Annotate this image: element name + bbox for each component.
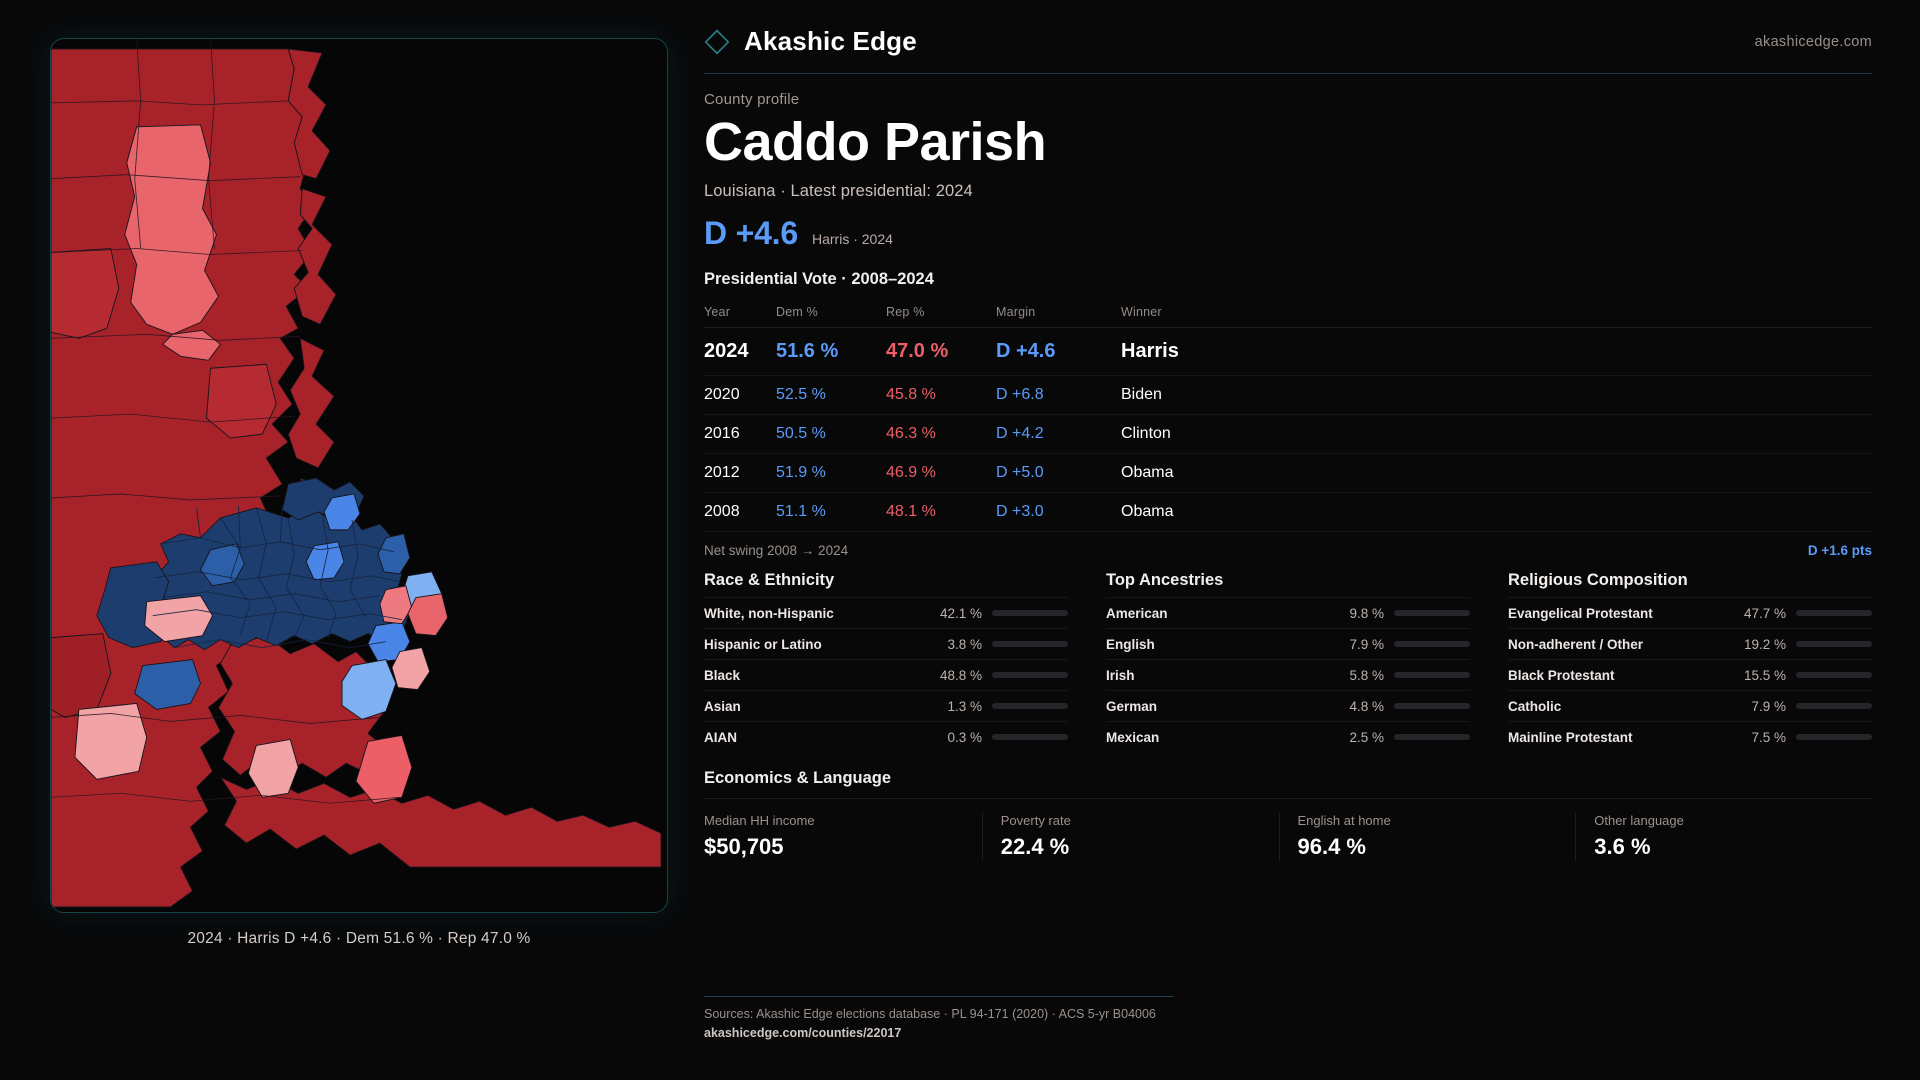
religion-value: 47.7 % xyxy=(1734,606,1786,621)
cell-dem: 50.5 % xyxy=(776,415,886,454)
vote-section-heading: Presidential Vote · 2008–2024 xyxy=(704,270,1872,289)
stat-label: English at home xyxy=(1298,813,1576,828)
footer-sources: Sources: Akashic Edge elections database… xyxy=(704,1007,1174,1021)
cell-rep: 46.3 % xyxy=(886,415,996,454)
list-item[interactable]: Non-adherent / Other19.2 % xyxy=(1508,628,1872,659)
religion-value: 7.5 % xyxy=(1734,730,1786,745)
cell-winner: Clinton xyxy=(1121,415,1872,454)
cell-winner: Biden xyxy=(1121,376,1872,415)
list-item[interactable]: Hispanic or Latino3.8 % xyxy=(704,628,1068,659)
ancestry-label: Irish xyxy=(1106,668,1322,683)
religion-heading: Religious Composition xyxy=(1508,571,1872,590)
race-value: 48.8 % xyxy=(930,668,982,683)
list-item[interactable]: Asian1.3 % xyxy=(704,690,1068,721)
race-value: 0.3 % xyxy=(930,730,982,745)
ancestry-value: 2.5 % xyxy=(1332,730,1384,745)
race-bar-track xyxy=(992,734,1068,740)
stat-other-language: Other language 3.6 % xyxy=(1575,813,1872,860)
brand-bar: Akashic Edge akashicedge.com xyxy=(704,26,1872,57)
stat-label: Poverty rate xyxy=(1001,813,1279,828)
page-eyebrow: County profile xyxy=(704,91,1872,108)
col-winner: Winner xyxy=(1121,298,1872,328)
diamond-outline-icon xyxy=(704,29,730,55)
demographics-row: Race & Ethnicity White, non-Hispanic42.1… xyxy=(704,571,1872,752)
religion-bar-track xyxy=(1796,610,1872,616)
stat-value: 3.6 % xyxy=(1594,834,1872,860)
race-label: AIAN xyxy=(704,730,920,745)
table-row[interactable]: 2020 52.5 % 45.8 % D +6.8 Biden xyxy=(704,376,1872,415)
list-item[interactable]: English7.9 % xyxy=(1106,628,1470,659)
stat-value: 22.4 % xyxy=(1001,834,1279,860)
cell-margin: D +4.6 xyxy=(996,328,1121,376)
race-heading: Race & Ethnicity xyxy=(704,571,1068,590)
page-title: Caddo Parish xyxy=(704,112,1872,172)
economics-divider xyxy=(704,798,1872,799)
ancestry-bar-track xyxy=(1394,672,1470,678)
list-item[interactable]: Irish5.8 % xyxy=(1106,659,1470,690)
religion-bar-track xyxy=(1796,672,1872,678)
cell-year: 2012 xyxy=(704,454,776,493)
list-item[interactable]: White, non-Hispanic42.1 % xyxy=(704,597,1068,628)
ancestry-label: German xyxy=(1106,699,1322,714)
brand[interactable]: Akashic Edge xyxy=(704,26,917,57)
list-item[interactable]: German4.8 % xyxy=(1106,690,1470,721)
stat-value: $50,705 xyxy=(704,834,982,860)
headline-margin-note: Harris · 2024 xyxy=(812,231,893,247)
col-dem: Dem % xyxy=(776,298,886,328)
precinct-map-svg[interactable] xyxy=(51,39,667,912)
religion-label: Evangelical Protestant xyxy=(1508,606,1724,621)
cell-margin: D +4.2 xyxy=(996,415,1121,454)
cell-year: 2008 xyxy=(704,493,776,532)
table-row[interactable]: 2008 51.1 % 48.1 % D +3.0 Obama xyxy=(704,493,1872,532)
religion-value: 15.5 % xyxy=(1734,668,1786,683)
cell-dem: 52.5 % xyxy=(776,376,886,415)
brand-url[interactable]: akashicedge.com xyxy=(1755,34,1872,50)
ancestry-label: American xyxy=(1106,606,1322,621)
religion-value: 7.9 % xyxy=(1734,699,1786,714)
stat-median-hh-income: Median HH income $50,705 xyxy=(704,813,982,860)
list-item[interactable]: Black48.8 % xyxy=(704,659,1068,690)
footer-permalink[interactable]: akashicedge.com/counties/22017 xyxy=(704,1026,1174,1040)
ancestry-label: English xyxy=(1106,637,1322,652)
list-item[interactable]: Black Protestant15.5 % xyxy=(1508,659,1872,690)
cell-margin: D +6.8 xyxy=(996,376,1121,415)
race-label: White, non-Hispanic xyxy=(704,606,920,621)
headline-margin-value: D +4.6 xyxy=(704,215,798,252)
race-ethnicity-panel: Race & Ethnicity White, non-Hispanic42.1… xyxy=(704,571,1068,752)
race-value: 42.1 % xyxy=(930,606,982,621)
race-label: Asian xyxy=(704,699,920,714)
footer: Sources: Akashic Edge elections database… xyxy=(704,996,1174,1040)
race-bar-track xyxy=(992,610,1068,616)
ancestry-label: Mexican xyxy=(1106,730,1322,745)
stat-english-at-home: English at home 96.4 % xyxy=(1279,813,1576,860)
race-bar-track xyxy=(992,703,1068,709)
stat-poverty-rate: Poverty rate 22.4 % xyxy=(982,813,1279,860)
race-bar-track xyxy=(992,641,1068,647)
race-label: Hispanic or Latino xyxy=(704,637,920,652)
list-item[interactable]: Catholic7.9 % xyxy=(1508,690,1872,721)
col-year: Year xyxy=(704,298,776,328)
economics-row: Median HH income $50,705 Poverty rate 22… xyxy=(704,813,1872,860)
race-bar-track xyxy=(992,672,1068,678)
stat-label: Other language xyxy=(1594,813,1872,828)
race-label: Black xyxy=(704,668,920,683)
content-column: Akashic Edge akashicedge.com County prof… xyxy=(690,0,1920,1080)
ancestry-value: 4.8 % xyxy=(1332,699,1384,714)
religion-bar-track xyxy=(1796,734,1872,740)
cell-dem: 51.6 % xyxy=(776,328,886,376)
ancestry-bar-track xyxy=(1394,610,1470,616)
footer-divider xyxy=(704,996,1174,997)
col-margin: Margin xyxy=(996,298,1121,328)
cell-rep: 48.1 % xyxy=(886,493,996,532)
cell-year: 2020 xyxy=(704,376,776,415)
ancestry-bar-track xyxy=(1394,734,1470,740)
map-caption: 2024 · Harris D +4.6 · Dem 51.6 % · Rep … xyxy=(50,930,668,948)
ancestry-heading: Top Ancestries xyxy=(1106,571,1470,590)
religious-composition-panel: Religious Composition Evangelical Protes… xyxy=(1508,571,1872,752)
list-item[interactable]: American9.8 % xyxy=(1106,597,1470,628)
cell-margin: D +3.0 xyxy=(996,493,1121,532)
cell-rep: 47.0 % xyxy=(886,328,996,376)
ancestry-bar-track xyxy=(1394,641,1470,647)
cell-winner: Obama xyxy=(1121,454,1872,493)
page-subline: Louisiana · Latest presidential: 2024 xyxy=(704,182,1872,201)
list-item[interactable]: Evangelical Protestant47.7 % xyxy=(1508,597,1872,628)
list-item[interactable]: Mainline Protestant7.5 % xyxy=(1508,721,1872,752)
list-item[interactable]: Mexican2.5 % xyxy=(1106,721,1470,752)
net-swing-value: D +1.6 pts xyxy=(1808,543,1872,558)
map-column: 2024 · Harris D +4.6 · Dem 51.6 % · Rep … xyxy=(0,0,690,1080)
religion-bar-track xyxy=(1796,703,1872,709)
table-row[interactable]: 2016 50.5 % 46.3 % D +4.2 Clinton xyxy=(704,415,1872,454)
cell-winner: Harris xyxy=(1121,328,1872,376)
precinct-map-frame[interactable] xyxy=(50,38,668,913)
stat-value: 96.4 % xyxy=(1298,834,1576,860)
cell-dem: 51.1 % xyxy=(776,493,886,532)
net-swing-row: Net swing 2008 → 2024 D +1.6 pts xyxy=(704,543,1872,558)
ancestry-bar-track xyxy=(1394,703,1470,709)
cell-rep: 46.9 % xyxy=(886,454,996,493)
cell-margin: D +5.0 xyxy=(996,454,1121,493)
religion-label: Mainline Protestant xyxy=(1508,730,1724,745)
header-divider xyxy=(704,73,1872,74)
county-profile-page: 2024 · Harris D +4.6 · Dem 51.6 % · Rep … xyxy=(0,0,1920,1080)
economics-heading: Economics & Language xyxy=(704,769,1872,788)
religion-value: 19.2 % xyxy=(1734,637,1786,652)
ancestry-value: 5.8 % xyxy=(1332,668,1384,683)
ancestry-value: 9.8 % xyxy=(1332,606,1384,621)
table-header-row: Year Dem % Rep % Margin Winner xyxy=(704,298,1872,328)
stat-label: Median HH income xyxy=(704,813,982,828)
precinct-mid-red-b xyxy=(206,364,276,438)
cell-winner: Obama xyxy=(1121,493,1872,532)
religion-label: Catholic xyxy=(1508,699,1724,714)
net-swing-label: Net swing 2008 → 2024 xyxy=(704,543,848,558)
cell-year: 2024 xyxy=(704,328,776,376)
religion-label: Black Protestant xyxy=(1508,668,1724,683)
headline-margin: D +4.6 Harris · 2024 xyxy=(704,215,1872,252)
table-row[interactable]: 2024 51.6 % 47.0 % D +4.6 Harris xyxy=(704,328,1872,376)
cell-year: 2016 xyxy=(704,415,776,454)
race-value: 3.8 % xyxy=(930,637,982,652)
presidential-vote-table: Year Dem % Rep % Margin Winner 2024 51.6… xyxy=(704,298,1872,532)
cell-dem: 51.9 % xyxy=(776,454,886,493)
list-item[interactable]: AIAN0.3 % xyxy=(704,721,1068,752)
race-value: 1.3 % xyxy=(930,699,982,714)
top-ancestries-panel: Top Ancestries American9.8 % English7.9 … xyxy=(1106,571,1470,752)
religion-bar-track xyxy=(1796,641,1872,647)
cell-rep: 45.8 % xyxy=(886,376,996,415)
brand-name: Akashic Edge xyxy=(744,26,917,57)
ancestry-value: 7.9 % xyxy=(1332,637,1384,652)
table-row[interactable]: 2012 51.9 % 46.9 % D +5.0 Obama xyxy=(704,454,1872,493)
religion-label: Non-adherent / Other xyxy=(1508,637,1724,652)
col-rep: Rep % xyxy=(886,298,996,328)
